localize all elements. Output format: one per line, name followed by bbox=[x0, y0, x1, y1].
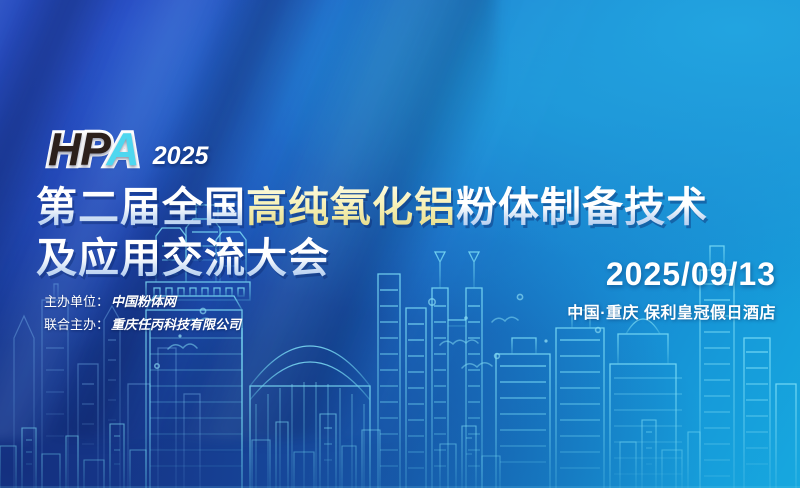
hpa-logo: HPA 2025 bbox=[48, 126, 208, 172]
hpa-logo-year: 2025 bbox=[153, 144, 209, 169]
title-segment-white-2: 粉体制备技术 bbox=[456, 184, 708, 230]
organizer-value: 中国粉体网 bbox=[111, 294, 176, 309]
organizer-value: 重庆任丙科技有限公司 bbox=[111, 317, 241, 332]
organizer-label: 联合主办： bbox=[44, 317, 109, 332]
hpa-logo-mark: HPA bbox=[48, 126, 139, 172]
organizer-row: 联合主办：重庆任丙科技有限公司 bbox=[44, 313, 241, 336]
conference-title-line1: 第二届全国高纯氧化铝粉体制备技术 bbox=[36, 182, 781, 233]
hpa-logo-hp: HP bbox=[48, 123, 107, 175]
conference-banner: HPA 2025 第二届全国高纯氧化铝粉体制备技术 及应用交流大会 主办单位：中… bbox=[0, 0, 800, 488]
organizer-row: 主办单位：中国粉体网 bbox=[44, 290, 241, 313]
organizer-block: 主办单位：中国粉体网 联合主办：重庆任丙科技有限公司 bbox=[44, 290, 241, 336]
event-date-venue: 2025/09/13 中国·重庆 保利皇冠假日酒店 bbox=[567, 258, 776, 323]
title-segment-white-1: 第二届全国 bbox=[36, 184, 246, 230]
title-segment-cream: 高纯氧化铝 bbox=[246, 184, 456, 230]
event-date: 2025/09/13 bbox=[567, 258, 776, 292]
event-venue: 中国·重庆 保利皇冠假日酒店 bbox=[567, 299, 776, 323]
hpa-logo-a: A bbox=[107, 123, 139, 175]
title-segment-white-3: 及应用交流大会 bbox=[36, 235, 330, 281]
banner-content: HPA 2025 第二届全国高纯氧化铝粉体制备技术 及应用交流大会 主办单位：中… bbox=[0, 0, 800, 488]
organizer-label: 主办单位： bbox=[44, 294, 109, 309]
